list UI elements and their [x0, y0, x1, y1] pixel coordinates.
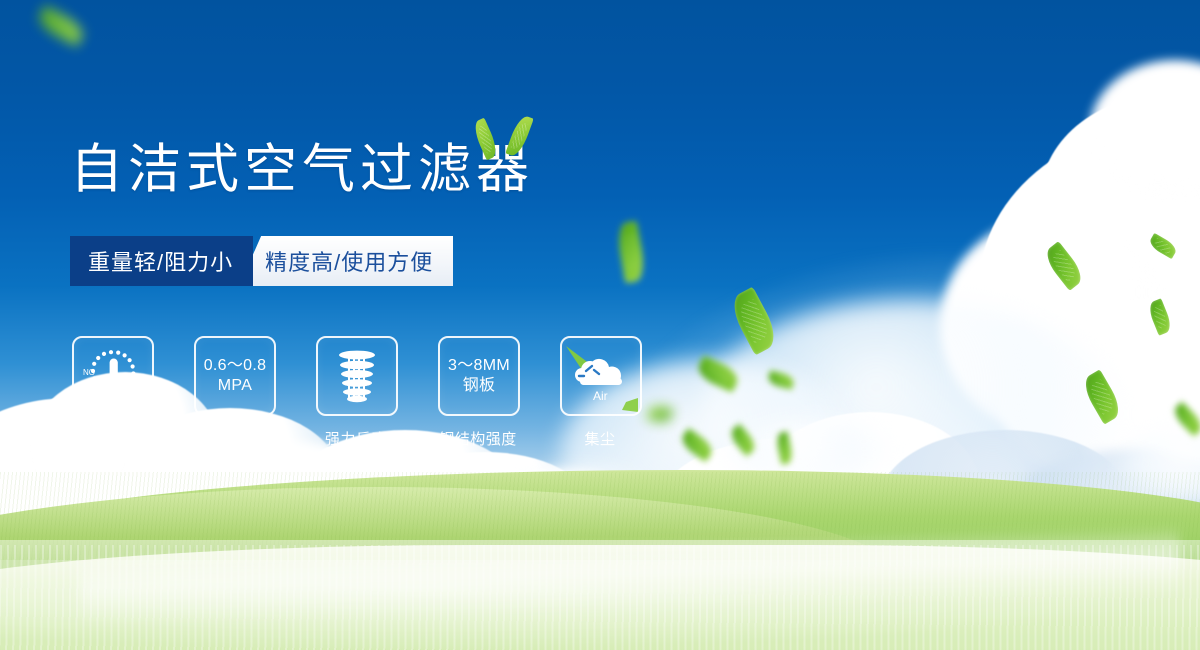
pressure-line-2: MPA	[204, 376, 267, 396]
feature-item-controller[interactable]: NO OFF 控制仪	[72, 336, 152, 449]
feature-label: 强力反吹	[316, 428, 396, 449]
pressure-line-1: 0.6～0.8	[204, 356, 267, 376]
cloud-air-caption: Air	[593, 389, 608, 403]
feature-list: NO OFF 控制仪 0.6～0.8 MPA 二级过滤	[72, 336, 640, 449]
cloud-air-icon: Air	[564, 340, 638, 412]
badge-right-text: 精度高/使用方便	[239, 236, 453, 286]
feature-item-back-blow[interactable]: 强力反吹	[316, 336, 396, 449]
feature-icon-box	[316, 336, 398, 416]
filter-cartridge-icon	[329, 346, 385, 406]
feature-label: 钢结构强度	[438, 428, 518, 449]
feature-item-two-stage-filter[interactable]: 0.6～0.8 MPA 二级过滤	[194, 336, 274, 449]
steel-text-icon: 3～8MM 钢板	[448, 356, 510, 395]
gauge-no-label: NO	[83, 368, 95, 377]
feature-icon-box: Air	[560, 336, 642, 416]
badge-left-text: 重量轻/阻力小	[70, 236, 253, 286]
grass-field	[0, 0, 1200, 650]
feature-icon-box: NO OFF	[72, 336, 154, 416]
steel-line-2: 钢板	[448, 376, 510, 396]
page-title: 自洁式空气过滤器	[70, 143, 534, 196]
leaf-accent-icon	[622, 398, 638, 412]
steel-line-1: 3～8MM	[448, 356, 510, 376]
feature-item-dust-collection[interactable]: Air 集尘	[560, 336, 640, 449]
feature-label: 集尘	[560, 428, 640, 449]
pressure-text-icon: 0.6～0.8 MPA	[204, 356, 267, 395]
product-hero-banner: 自洁式空气过滤器 重量轻/阻力小 精度高/使用方便	[0, 0, 1200, 650]
feature-item-steel-strength[interactable]: 3～8MM 钢板 钢结构强度	[438, 336, 518, 449]
feature-icon-box: 0.6～0.8 MPA	[194, 336, 276, 416]
gauge-off-label: OFF	[120, 392, 136, 401]
gauge-dial-icon: NO OFF	[80, 345, 146, 407]
feature-label: 二级过滤	[194, 428, 274, 449]
feature-label: 控制仪	[72, 428, 152, 449]
subtitle-badge: 重量轻/阻力小 精度高/使用方便	[70, 236, 453, 286]
feature-icon-box: 3～8MM 钢板	[438, 336, 520, 416]
